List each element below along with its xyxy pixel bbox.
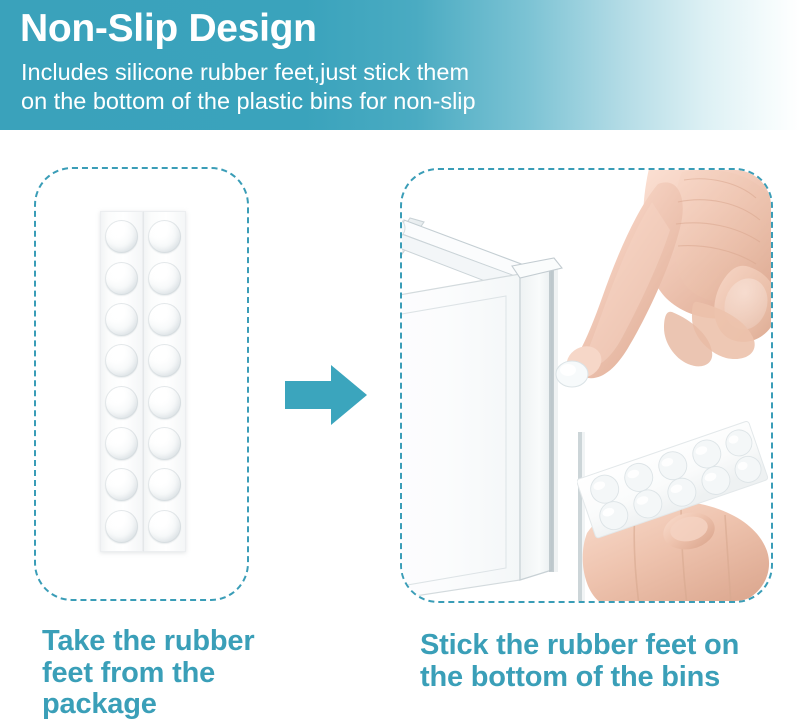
rubber-foot	[148, 220, 181, 253]
rubber-foot	[148, 344, 181, 377]
rubber-foot	[148, 510, 181, 543]
apply-feet-photo	[402, 170, 771, 601]
step-arrow-icon	[285, 363, 367, 427]
rubber-foot	[148, 262, 181, 295]
left-caption-line-3: package	[42, 689, 342, 721]
header-subtitle-line-1: Includes silicone rubber feet,just stick…	[21, 58, 476, 87]
rubber-foot-in-hand	[556, 361, 588, 387]
right-caption-line-2: the bottom of the bins	[420, 662, 790, 694]
rubber-foot	[105, 220, 138, 253]
header-subtitle-line-2: on the bottom of the plastic bins for no…	[21, 87, 476, 116]
rubber-foot	[105, 303, 138, 336]
rubber-foot	[105, 427, 138, 460]
left-caption-line-2: feet from the	[42, 658, 342, 690]
header-subtitle: Includes silicone rubber feet,just stick…	[21, 58, 476, 116]
feet-strip-column-left	[100, 211, 143, 552]
rubber-foot	[148, 427, 181, 460]
feet-strip-column-right	[143, 211, 186, 552]
right-step-caption: Stick the rubber feet on the bottom of t…	[420, 630, 790, 693]
rubber-foot	[105, 344, 138, 377]
rubber-foot	[105, 510, 138, 543]
rubber-foot	[148, 468, 181, 501]
hand-holding-strip	[577, 405, 771, 601]
rubber-foot	[105, 262, 138, 295]
right-caption-line-1: Stick the rubber feet on	[420, 630, 790, 662]
header-banner: Non-Slip Design Includes silicone rubber…	[0, 0, 800, 130]
infographic-page: Non-Slip Design Includes silicone rubber…	[0, 0, 800, 723]
rubber-foot	[105, 386, 138, 419]
left-step-caption: Take the rubber feet from the package	[42, 626, 342, 721]
rubber-foot	[148, 386, 181, 419]
rubber-foot	[105, 468, 138, 501]
rubber-foot	[148, 303, 181, 336]
page-title: Non-Slip Design	[20, 6, 317, 52]
rubber-feet-strip	[100, 211, 186, 552]
left-caption-line-1: Take the rubber	[42, 626, 342, 658]
hand-pressing-foot	[532, 170, 771, 422]
